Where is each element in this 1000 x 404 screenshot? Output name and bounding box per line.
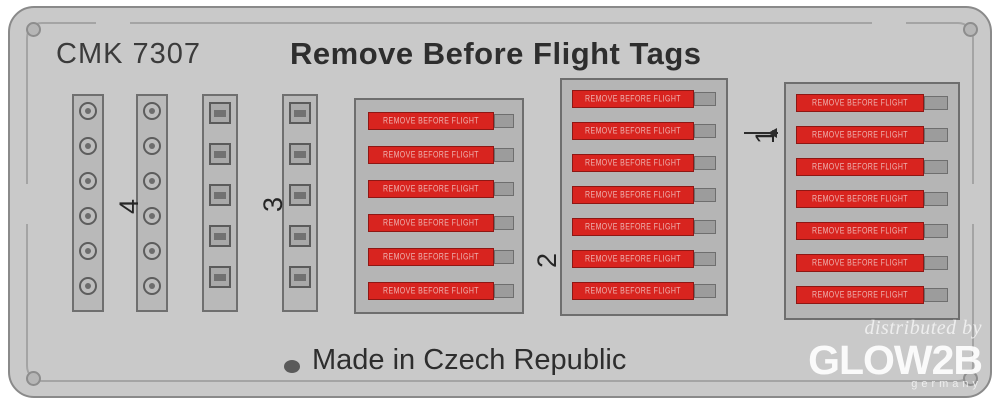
product-code: CMK 7307 bbox=[56, 38, 201, 71]
group-4: 4 bbox=[68, 94, 188, 314]
frame-gap-right bbox=[972, 184, 978, 224]
tag-strap bbox=[694, 188, 716, 202]
clip-part bbox=[209, 102, 231, 124]
tag-strap bbox=[924, 192, 948, 206]
tag-strap bbox=[694, 124, 716, 138]
bolt-part bbox=[79, 207, 97, 225]
tag-label: REMOVE BEFORE FLIGHT bbox=[585, 223, 681, 232]
bolt-part bbox=[143, 102, 161, 120]
tag-label: REMOVE BEFORE FLIGHT bbox=[585, 287, 681, 296]
tag-strap bbox=[924, 224, 948, 238]
group-2: REMOVE BEFORE FLIGHT REMOVE BEFORE FLIGH… bbox=[538, 78, 728, 318]
group-2-label: 2 bbox=[532, 253, 563, 268]
rivet-bottom-right bbox=[963, 371, 978, 386]
clip-part bbox=[289, 143, 311, 165]
origin-text: Made in Czech Republic bbox=[312, 344, 626, 377]
frame-gap-top-right bbox=[872, 20, 906, 26]
rivet-top-right bbox=[963, 22, 978, 37]
tag-label: REMOVE BEFORE FLIGHT bbox=[585, 191, 681, 200]
bolt-part bbox=[143, 242, 161, 260]
tag-strap bbox=[924, 96, 948, 110]
tag: REMOVE BEFORE FLIGHT bbox=[796, 158, 924, 176]
tag: REMOVE BEFORE FLIGHT bbox=[368, 180, 494, 198]
tag-label: REMOVE BEFORE FLIGHT bbox=[383, 219, 479, 228]
tag: REMOVE BEFORE FLIGHT bbox=[796, 222, 924, 240]
middle-tag-panel: REMOVE BEFORE FLIGHT REMOVE BEFORE FLIGH… bbox=[560, 78, 728, 316]
tag-strap bbox=[494, 182, 514, 196]
tag: REMOVE BEFORE FLIGHT bbox=[368, 282, 494, 300]
tag-label: REMOVE BEFORE FLIGHT bbox=[812, 259, 908, 268]
tag-strap bbox=[924, 256, 948, 270]
tag-strap bbox=[694, 284, 716, 298]
frame-gap-left bbox=[22, 184, 28, 224]
group-1: 1 REMOVE BEFORE FLIGHT REMOVE BEFORE FLI… bbox=[732, 70, 962, 320]
tag-label: REMOVE BEFORE FLIGHT bbox=[383, 253, 479, 262]
tag-strap bbox=[694, 220, 716, 234]
tag: REMOVE BEFORE FLIGHT bbox=[796, 190, 924, 208]
tag: REMOVE BEFORE FLIGHT bbox=[572, 250, 694, 268]
clip-part bbox=[289, 102, 311, 124]
tag-label: REMOVE BEFORE FLIGHT bbox=[383, 117, 479, 126]
tag-strap bbox=[924, 288, 948, 302]
tag-strap bbox=[494, 216, 514, 230]
tag-strap bbox=[494, 148, 514, 162]
tag-strap bbox=[494, 250, 514, 264]
right-tag-panel: REMOVE BEFORE FLIGHT REMOVE BEFORE FLIGH… bbox=[784, 82, 960, 320]
rivet-bottom-left bbox=[26, 371, 41, 386]
tag-label: REMOVE BEFORE FLIGHT bbox=[383, 287, 479, 296]
tag-strap bbox=[694, 252, 716, 266]
group-1-leader-arrow bbox=[768, 128, 777, 138]
tag-label: REMOVE BEFORE FLIGHT bbox=[812, 99, 908, 108]
bolt-part bbox=[79, 102, 97, 120]
group-4-label: 4 bbox=[114, 199, 145, 214]
tag-strap bbox=[924, 160, 948, 174]
tag-strap bbox=[494, 284, 514, 298]
tag-label: REMOVE BEFORE FLIGHT bbox=[585, 255, 681, 264]
clip-part bbox=[209, 266, 231, 288]
tag-label: REMOVE BEFORE FLIGHT bbox=[812, 163, 908, 172]
bolt-part bbox=[143, 207, 161, 225]
tag-label: REMOVE BEFORE FLIGHT bbox=[812, 131, 908, 140]
rivet-top-left bbox=[26, 22, 41, 37]
frame-gap-top-left bbox=[96, 20, 130, 26]
tag: REMOVE BEFORE FLIGHT bbox=[368, 248, 494, 266]
tag-strap bbox=[924, 128, 948, 142]
clip-part bbox=[209, 184, 231, 206]
clip-part bbox=[209, 143, 231, 165]
tag: REMOVE BEFORE FLIGHT bbox=[796, 126, 924, 144]
product-photo: CMK 7307 Remove Before Flight Tags Made … bbox=[0, 0, 1000, 404]
tag: REMOVE BEFORE FLIGHT bbox=[796, 94, 924, 112]
tag-strap bbox=[694, 92, 716, 106]
tag: REMOVE BEFORE FLIGHT bbox=[572, 282, 694, 300]
bolt-part bbox=[79, 277, 97, 295]
tag: REMOVE BEFORE FLIGHT bbox=[572, 186, 694, 204]
photo-etch-fret: CMK 7307 Remove Before Flight Tags Made … bbox=[8, 6, 992, 398]
tag-label: REMOVE BEFORE FLIGHT bbox=[812, 195, 908, 204]
tag-label: REMOVE BEFORE FLIGHT bbox=[812, 291, 908, 300]
bolt-part bbox=[143, 172, 161, 190]
clip-part bbox=[289, 266, 311, 288]
tag: REMOVE BEFORE FLIGHT bbox=[796, 254, 924, 272]
tag-strap bbox=[694, 156, 716, 170]
tag-label: REMOVE BEFORE FLIGHT bbox=[383, 185, 479, 194]
tag-label: REMOVE BEFORE FLIGHT bbox=[585, 127, 681, 136]
tag: REMOVE BEFORE FLIGHT bbox=[368, 112, 494, 130]
tag-label: REMOVE BEFORE FLIGHT bbox=[585, 95, 681, 104]
tag: REMOVE BEFORE FLIGHT bbox=[572, 154, 694, 172]
group-3: 3 bbox=[202, 94, 326, 314]
bolt-part bbox=[79, 137, 97, 155]
bolt-part bbox=[143, 277, 161, 295]
clip-part bbox=[209, 225, 231, 247]
tag: REMOVE BEFORE FLIGHT bbox=[572, 122, 694, 140]
bolt-part bbox=[79, 242, 97, 260]
tag-label: REMOVE BEFORE FLIGHT bbox=[812, 227, 908, 236]
tag-strap bbox=[494, 114, 514, 128]
bolt-part bbox=[79, 172, 97, 190]
tag: REMOVE BEFORE FLIGHT bbox=[572, 218, 694, 236]
tag: REMOVE BEFORE FLIGHT bbox=[368, 214, 494, 232]
product-title: Remove Before Flight Tags bbox=[290, 36, 702, 72]
clip-part bbox=[289, 225, 311, 247]
tag: REMOVE BEFORE FLIGHT bbox=[796, 286, 924, 304]
tag-label: REMOVE BEFORE FLIGHT bbox=[383, 151, 479, 160]
tag: REMOVE BEFORE FLIGHT bbox=[572, 90, 694, 108]
decorative-dot bbox=[284, 360, 300, 373]
tag-label: REMOVE BEFORE FLIGHT bbox=[585, 159, 681, 168]
clip-part bbox=[289, 184, 311, 206]
bolt-part bbox=[143, 137, 161, 155]
tag: REMOVE BEFORE FLIGHT bbox=[368, 146, 494, 164]
left-tag-panel: REMOVE BEFORE FLIGHT REMOVE BEFORE FLIGH… bbox=[354, 98, 524, 314]
group-3-label: 3 bbox=[258, 197, 289, 212]
